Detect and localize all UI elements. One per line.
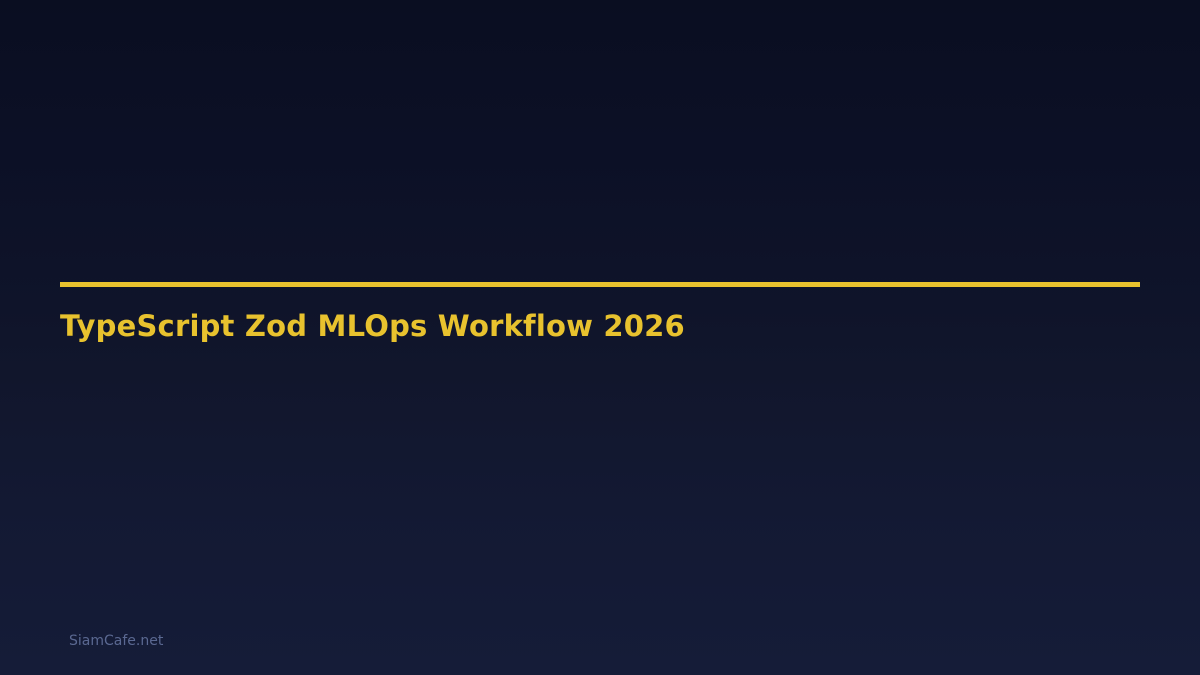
page-title: TypeScript Zod MLOps Workflow 2026 [60,287,1140,343]
footer-site-label: SiamCafe.net [69,633,163,649]
title-block: TypeScript Zod MLOps Workflow 2026 [60,282,1140,343]
footer: SiamCafe.net [69,630,163,650]
slide-canvas: TypeScript Zod MLOps Workflow 2026 SiamC… [0,0,1200,675]
